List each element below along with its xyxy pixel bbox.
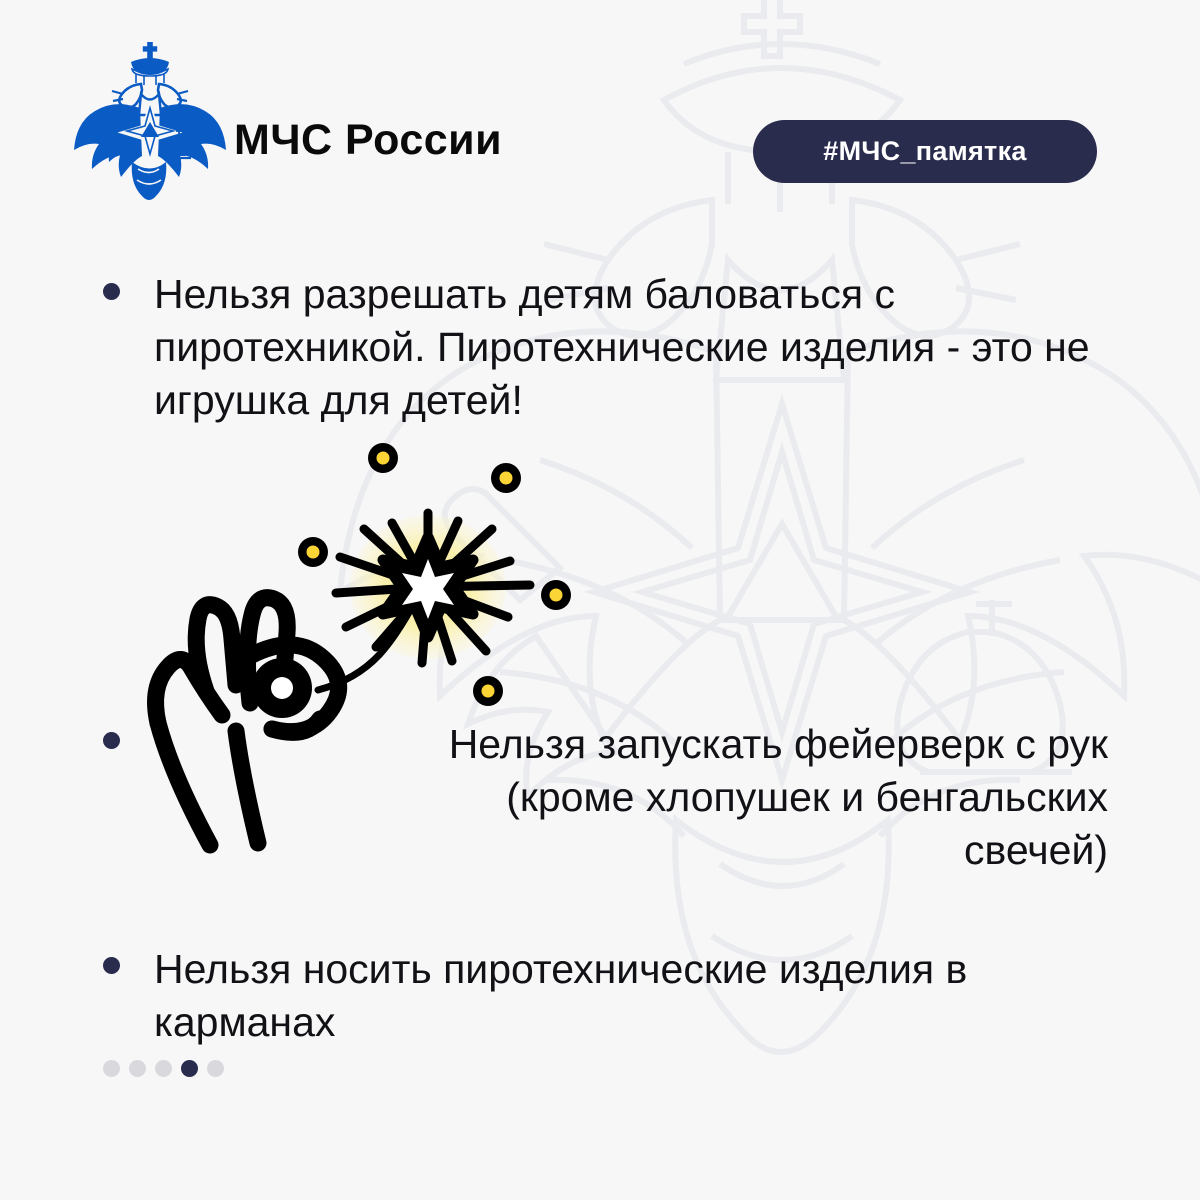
memo-card: МЧС России #МЧС_памятка Нельзя разрешать… — [0, 0, 1200, 1200]
pagination-dots[interactable] — [103, 1060, 224, 1077]
pagination-dot-1[interactable] — [103, 1060, 120, 1077]
pagination-dot-4[interactable] — [181, 1060, 198, 1077]
pagination-dot-2[interactable] — [129, 1060, 146, 1077]
pagination-dot-5[interactable] — [207, 1060, 224, 1077]
bullet-text: Нельзя носить пиротехнические изделия в … — [154, 943, 1114, 1049]
bullet-item-no-carry-in-pockets: Нельзя носить пиротехнические изделия в … — [0, 0, 1200, 1200]
pagination-dot-3[interactable] — [155, 1060, 172, 1077]
bullet-dot-icon — [103, 957, 120, 974]
